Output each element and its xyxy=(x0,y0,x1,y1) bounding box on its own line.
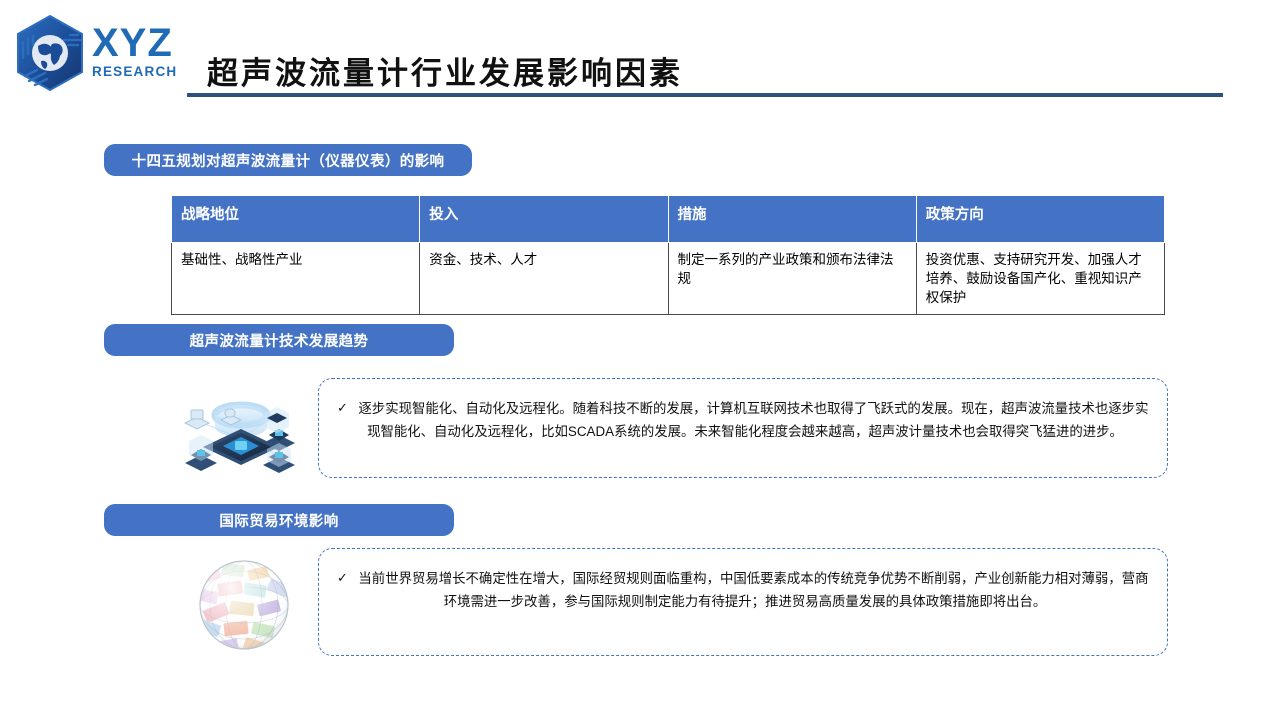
brand-tagline: RESEARCH xyxy=(92,64,192,79)
table-cell: 制定一系列的产业政策和颁布法律法规 xyxy=(668,243,916,315)
section-header-trade-environment: 国际贸易环境影响 xyxy=(104,504,454,536)
technology-trend-text: ✓逐步实现智能化、自动化及远程化。随着科技不断的发展，计算机互联网技术也取得了飞… xyxy=(337,397,1153,443)
trade-environment-text: ✓当前世界贸易增长不确定性在增大，国际经贸规则面临重构，中国低要素成本的传统竞争… xyxy=(337,567,1153,613)
policy-impact-table: 战略地位 投入 措施 政策方向 基础性、战略性产业 资金、技术、人才 制定一系列… xyxy=(171,195,1165,315)
hexagon-globe-icon xyxy=(14,14,86,96)
trade-environment-paragraph: 当前世界贸易增长不确定性在增大，国际经贸规则面临重构，中国低要素成本的传统竞争优… xyxy=(358,571,1148,609)
check-icon: ✓ xyxy=(337,397,348,419)
isometric-chip-network-icon xyxy=(175,385,305,485)
technology-trend-callout: ✓逐步实现智能化、自动化及远程化。随着科技不断的发展，计算机互联网技术也取得了飞… xyxy=(318,378,1168,478)
table-row: 基础性、战略性产业 资金、技术、人才 制定一系列的产业政策和颁布法律法规 投资优… xyxy=(172,243,1165,315)
section-header-technology-trend: 超声波流量计技术发展趋势 xyxy=(104,324,454,356)
table-header-cell: 政策方向 xyxy=(916,196,1164,243)
table-header-row: 战略地位 投入 措施 政策方向 xyxy=(172,196,1165,243)
page-title: 超声波流量计行业发展影响因素 xyxy=(207,48,683,93)
table-header-cell: 战略地位 xyxy=(172,196,420,243)
trade-environment-callout: ✓当前世界贸易增长不确定性在增大，国际经贸规则面临重构，中国低要素成本的传统竞争… xyxy=(318,548,1168,656)
technology-trend-paragraph: 逐步实现智能化、自动化及远程化。随着科技不断的发展，计算机互联网技术也取得了飞跃… xyxy=(358,401,1148,439)
table-cell: 基础性、战略性产业 xyxy=(172,243,420,315)
section-header-policy: 十四五规划对超声波流量计（仪器仪表）的影响 xyxy=(104,144,472,176)
table-header-cell: 措施 xyxy=(668,196,916,243)
title-divider xyxy=(187,93,1223,97)
check-icon: ✓ xyxy=(337,567,348,589)
brand-name: XYZ xyxy=(92,24,192,62)
brand-wordmark: XYZ RESEARCH xyxy=(92,24,192,79)
table-cell: 投资优惠、支持研究开发、加强人才培养、鼓励设备国产化、重视知识产权保护 xyxy=(916,243,1164,315)
brand-logo: XYZ RESEARCH xyxy=(8,8,193,100)
currency-globe-icon xyxy=(192,556,296,654)
table-cell: 资金、技术、人才 xyxy=(420,243,668,315)
table-header-cell: 投入 xyxy=(420,196,668,243)
